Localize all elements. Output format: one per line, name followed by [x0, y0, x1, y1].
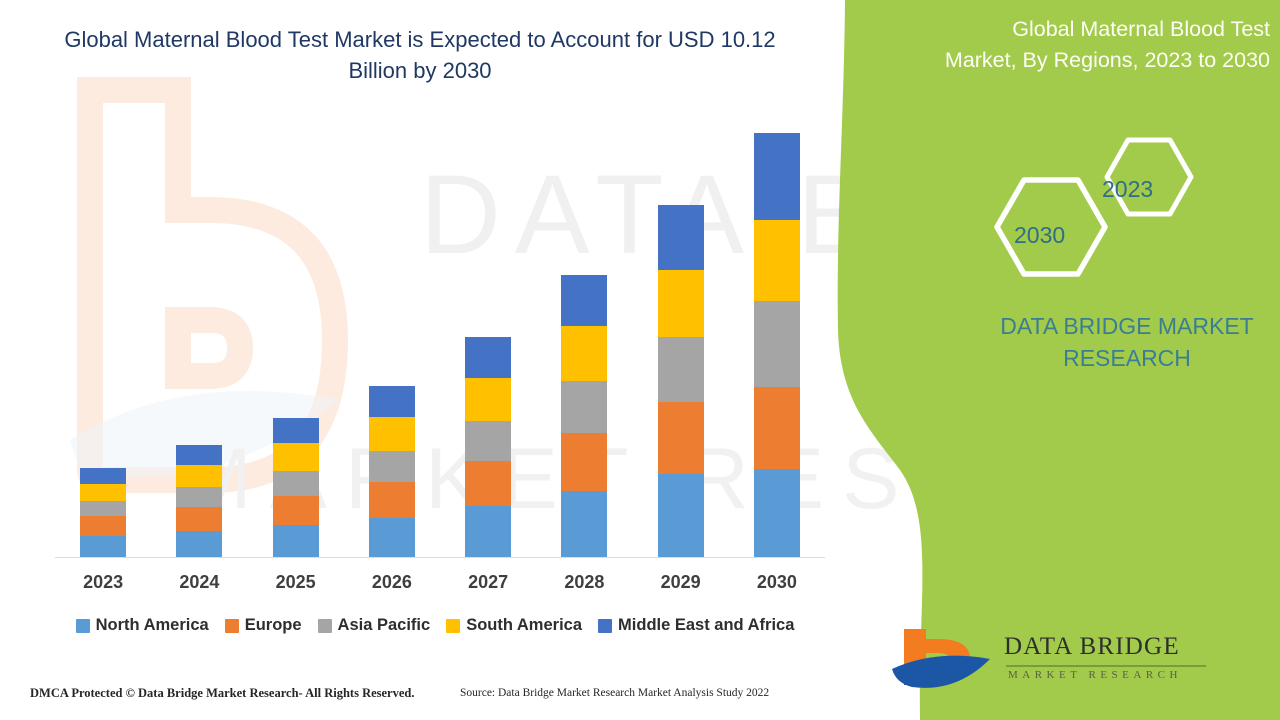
bar-segment-north-america[interactable]	[658, 474, 704, 558]
chart-plot-area	[55, 120, 825, 558]
brand-logo: DATA BRIDGE MARKET RESEARCH	[890, 625, 1240, 697]
legend-item-south-america[interactable]: South America	[446, 616, 582, 635]
brand-logo-mark-icon	[890, 625, 1000, 695]
bar-segment-asia-pacific[interactable]	[369, 451, 415, 482]
legend-label: South America	[466, 616, 582, 635]
bar-segment-south-america[interactable]	[465, 378, 511, 421]
bar-column-2025[interactable]	[248, 120, 344, 558]
bar-segment-europe[interactable]	[561, 433, 607, 491]
brand-panel: Global Maternal Blood Test Market, By Re…	[760, 0, 1280, 720]
bar-column-2024[interactable]	[151, 120, 247, 558]
bar-segment-asia-pacific[interactable]	[273, 471, 319, 496]
x-tick-2024: 2024	[151, 572, 247, 593]
x-axis-line	[55, 557, 825, 558]
x-tick-2023: 2023	[55, 572, 151, 593]
bar-segment-middle-east-and-africa[interactable]	[80, 468, 126, 484]
x-tick-2025: 2025	[248, 572, 344, 593]
bar-segment-europe[interactable]	[273, 496, 319, 525]
x-tick-2026: 2026	[344, 572, 440, 593]
bar-column-2023[interactable]	[55, 120, 151, 558]
bar-stack	[561, 275, 607, 558]
bar-segment-north-america[interactable]	[561, 491, 607, 558]
bar-segment-south-america[interactable]	[561, 326, 607, 380]
legend-swatch-icon	[318, 619, 332, 633]
hexagon-shapes-icon	[978, 130, 1218, 290]
infographic-root: DATA BRIDGE MARKET RESEARCH Global Mater…	[0, 0, 1280, 720]
legend-item-north-america[interactable]: North America	[76, 616, 209, 635]
footer-copyright: DMCA Protected © Data Bridge Market Rese…	[30, 686, 415, 701]
bar-segment-south-america[interactable]	[273, 443, 319, 471]
bar-column-2027[interactable]	[440, 120, 536, 558]
bar-segment-europe[interactable]	[465, 461, 511, 506]
bar-stack	[273, 418, 319, 558]
panel-title: Global Maternal Blood Test Market, By Re…	[940, 14, 1270, 76]
stacked-bar-group	[55, 120, 825, 558]
chart-legend: North AmericaEuropeAsia PacificSouth Ame…	[40, 616, 830, 635]
bar-segment-europe[interactable]	[658, 402, 704, 473]
bar-segment-asia-pacific[interactable]	[80, 501, 126, 517]
bar-column-2026[interactable]	[344, 120, 440, 558]
bar-segment-asia-pacific[interactable]	[176, 487, 222, 507]
brand-logo-subtitle: MARKET RESEARCH	[1008, 669, 1182, 681]
bar-segment-asia-pacific[interactable]	[561, 381, 607, 433]
bar-segment-middle-east-and-africa[interactable]	[658, 205, 704, 270]
bar-segment-middle-east-and-africa[interactable]	[561, 275, 607, 327]
bar-stack	[465, 337, 511, 558]
bar-segment-south-america[interactable]	[176, 465, 222, 488]
bar-segment-north-america[interactable]	[80, 536, 126, 559]
bar-stack	[80, 468, 126, 558]
brand-name-text: DATA BRIDGE MARKET RESEARCH	[982, 310, 1272, 374]
hexagon-label-2030: 2030	[1014, 222, 1065, 249]
bar-segment-middle-east-and-africa[interactable]	[176, 445, 222, 465]
bar-column-2029[interactable]	[633, 120, 729, 558]
bar-segment-north-america[interactable]	[176, 531, 222, 558]
bar-segment-north-america[interactable]	[369, 518, 415, 558]
legend-label: North America	[96, 616, 209, 635]
bar-segment-europe[interactable]	[369, 482, 415, 518]
bar-segment-south-america[interactable]	[369, 417, 415, 451]
x-tick-2029: 2029	[633, 572, 729, 593]
brand-logo-divider	[1006, 665, 1206, 667]
bar-segment-asia-pacific[interactable]	[465, 421, 511, 461]
bar-segment-middle-east-and-africa[interactable]	[465, 337, 511, 377]
bar-segment-asia-pacific[interactable]	[658, 337, 704, 402]
legend-swatch-icon	[446, 619, 460, 633]
legend-item-asia-pacific[interactable]: Asia Pacific	[318, 616, 431, 635]
hexagon-badges: 2023 2030	[978, 130, 1218, 290]
bar-segment-south-america[interactable]	[80, 484, 126, 501]
legend-item-europe[interactable]: Europe	[225, 616, 302, 635]
x-axis-tick-labels: 20232024202520262027202820292030	[55, 572, 825, 593]
bar-segment-south-america[interactable]	[658, 270, 704, 337]
brand-logo-title: DATA BRIDGE	[1004, 633, 1180, 661]
page-title: Global Maternal Blood Test Market is Exp…	[60, 24, 780, 86]
legend-label: Asia Pacific	[338, 616, 431, 635]
bar-stack	[369, 386, 415, 558]
x-tick-2027: 2027	[440, 572, 536, 593]
bar-segment-europe[interactable]	[176, 507, 222, 531]
bar-column-2028[interactable]	[536, 120, 632, 558]
bar-stack	[658, 205, 704, 558]
x-tick-2028: 2028	[536, 572, 632, 593]
bar-segment-europe[interactable]	[80, 516, 126, 535]
bar-segment-middle-east-and-africa[interactable]	[369, 386, 415, 417]
hexagon-label-2023: 2023	[1102, 176, 1153, 203]
legend-label: Europe	[245, 616, 302, 635]
legend-swatch-icon	[598, 619, 612, 633]
bar-stack	[176, 445, 222, 558]
legend-swatch-icon	[76, 619, 90, 633]
footer-source: Source: Data Bridge Market Research Mark…	[460, 687, 769, 699]
legend-swatch-icon	[225, 619, 239, 633]
bar-segment-north-america[interactable]	[273, 525, 319, 558]
bar-segment-north-america[interactable]	[465, 506, 511, 558]
bar-segment-middle-east-and-africa[interactable]	[273, 418, 319, 443]
